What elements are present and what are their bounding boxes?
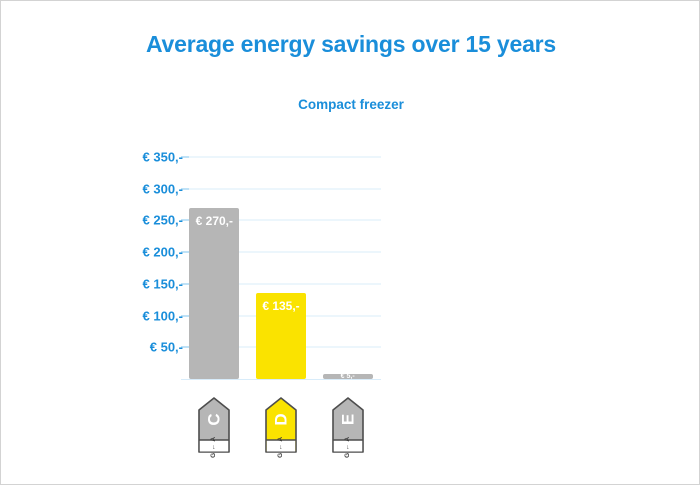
badge-scale-label: G ← A — [344, 430, 351, 464]
plot-area: € 350,-€ 300,-€ 250,-€ 200,-€ 150,-€ 100… — [111, 141, 401, 391]
badge-scale-label: G ← A — [211, 430, 218, 464]
energy-label-d[interactable]: DG ← A — [264, 397, 298, 453]
y-axis-tick-label: € 50,- — [83, 340, 183, 355]
gridline — [181, 188, 381, 189]
page-title: Average energy savings over 15 years — [1, 31, 700, 58]
bar-c[interactable]: € 270,- — [189, 208, 239, 379]
bar-d[interactable]: € 135,- — [256, 293, 306, 379]
badge-scale-label: G ← A — [278, 430, 285, 464]
energy-label-c[interactable]: CG ← A — [197, 397, 231, 453]
y-axis-tick-label: € 150,- — [83, 276, 183, 291]
energy-label-e[interactable]: EG ← A — [331, 397, 365, 453]
bar-value-label: € 135,- — [256, 299, 306, 313]
bar-e[interactable]: € 5,- — [323, 374, 373, 379]
gridline — [181, 156, 381, 157]
y-axis-tick-label: € 200,- — [83, 245, 183, 260]
bar-value-label: € 270,- — [189, 214, 239, 228]
y-axis-tick-label: € 350,- — [83, 149, 183, 164]
y-axis-tick-label: € 300,- — [83, 181, 183, 196]
bar-value-label: € 5,- — [323, 374, 373, 379]
chart-subtitle: Compact freezer — [1, 97, 700, 112]
y-axis-tick-label: € 250,- — [83, 213, 183, 228]
y-axis-tick-label: € 100,- — [83, 308, 183, 323]
chart-page: Average energy savings over 15 years Com… — [0, 0, 700, 485]
axis-baseline — [181, 379, 381, 380]
